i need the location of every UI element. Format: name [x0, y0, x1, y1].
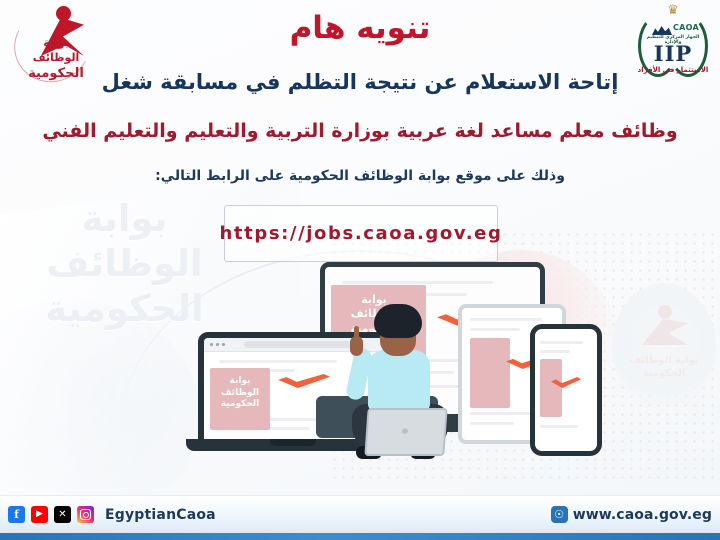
- devices-illustration: بوابة الوظائف الحكومية: [190, 262, 610, 472]
- logo-left-line2: الوظائف: [10, 51, 102, 66]
- footer-bar: f ▶ ✕ EgyptianCaoa ☉ www.caoa.gov.eg: [0, 495, 720, 540]
- person-hair: [374, 304, 422, 338]
- announcement-line-3: وظائف معلم مساعد لغة عربية بوزارة التربي…: [0, 120, 720, 142]
- portal-url-link[interactable]: https://jobs.caoa.gov.eg: [220, 223, 503, 244]
- laptop-label-1: بوابة: [210, 376, 270, 388]
- instagram-icon[interactable]: [77, 506, 94, 523]
- globe-icon: ☉: [551, 506, 568, 523]
- youtube-icon[interactable]: ▶: [31, 506, 48, 523]
- watermark-left-line1: بوابة: [22, 196, 227, 241]
- watermark-right-text: بوابة الوظائف الحكومية: [612, 355, 716, 380]
- x-twitter-icon[interactable]: ✕: [54, 506, 71, 523]
- phone-speaker: [550, 326, 568, 329]
- laptop-label-2: الوظائف: [210, 388, 270, 400]
- laptop-banner-text: بوابة الوظائف الحكومية: [210, 376, 270, 411]
- announcement-line-2: إتاحة الاستعلام عن نتيجة التظلم في مسابق…: [0, 70, 720, 94]
- announcement-line-4: وذلك على موقع بوابة الوظائف الحكومية على…: [0, 168, 720, 184]
- social-links: f ▶ ✕ EgyptianCaoa: [8, 506, 216, 523]
- watermark-right-line1: بوابة الوظائف: [612, 355, 716, 368]
- page-title: تنويه هام: [0, 10, 720, 46]
- footer-accent-strip: [0, 533, 720, 540]
- person-pointing-finger: [354, 326, 359, 340]
- tablet-banner-card: [470, 338, 510, 408]
- person-torso: [368, 350, 430, 412]
- phone-screen: [530, 324, 602, 456]
- person-illustration: [338, 304, 458, 472]
- watermark-figure-icon: [642, 305, 688, 351]
- facebook-icon[interactable]: f: [8, 506, 25, 523]
- url-box[interactable]: https://jobs.caoa.gov.eg: [224, 205, 498, 262]
- phone-device: [530, 324, 592, 446]
- phone-banner-card: [540, 359, 562, 417]
- laptop-notch: [270, 439, 316, 446]
- website-url[interactable]: www.caoa.gov.eg: [573, 507, 712, 523]
- headline-block: تنويه هام: [0, 10, 720, 46]
- laptop-label-3: الحكومية: [210, 399, 270, 411]
- watermark-right-line2: الحكومية: [612, 368, 716, 381]
- website-link[interactable]: ☉ www.caoa.gov.eg: [551, 506, 712, 523]
- poster-canvas: بوابة الوظائف الحكومية بوابة الوظائف الح…: [0, 0, 720, 540]
- person-laptop: [364, 408, 447, 456]
- watermark-right: بوابة الوظائف الحكومية: [612, 283, 716, 411]
- social-handle: EgyptianCaoa: [105, 507, 216, 523]
